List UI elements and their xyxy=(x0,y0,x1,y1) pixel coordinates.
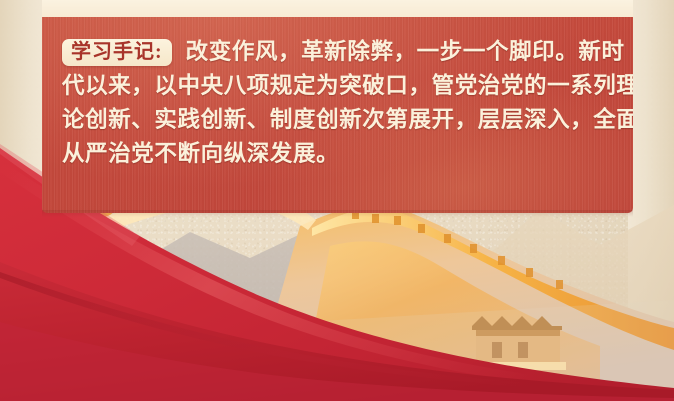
article-line-3: 论创新、实践创新、制度创新次第展开，层层深入，全面 xyxy=(62,103,617,137)
article-panel: 学习手记: 改变作风，革新除弊，一步一个脚印。新时 代以来，以中央八项规定为突破… xyxy=(42,17,633,213)
article-line-4: 从严治党不断向纵深发展。 xyxy=(62,137,617,171)
article-text-block: 学习手记: 改变作风，革新除弊，一步一个脚印。新时 代以来，以中央八项规定为突破… xyxy=(62,35,617,171)
article-line-2: 代以来，以中央八项规定为突破口，管党治党的一系列理 xyxy=(62,69,617,103)
study-notes-badge: 学习手记: xyxy=(62,39,172,66)
article-line-1: 学习手记: 改变作风，革新除弊，一步一个脚印。新时 xyxy=(62,35,617,69)
article-line-1-text: 改变作风，革新除弊，一步一个脚印。新时 xyxy=(184,35,625,69)
top-cream-band xyxy=(42,0,633,18)
poster-canvas: 学习手记: 改变作风，革新除弊，一步一个脚印。新时 代以来，以中央八项规定为突破… xyxy=(0,0,674,401)
